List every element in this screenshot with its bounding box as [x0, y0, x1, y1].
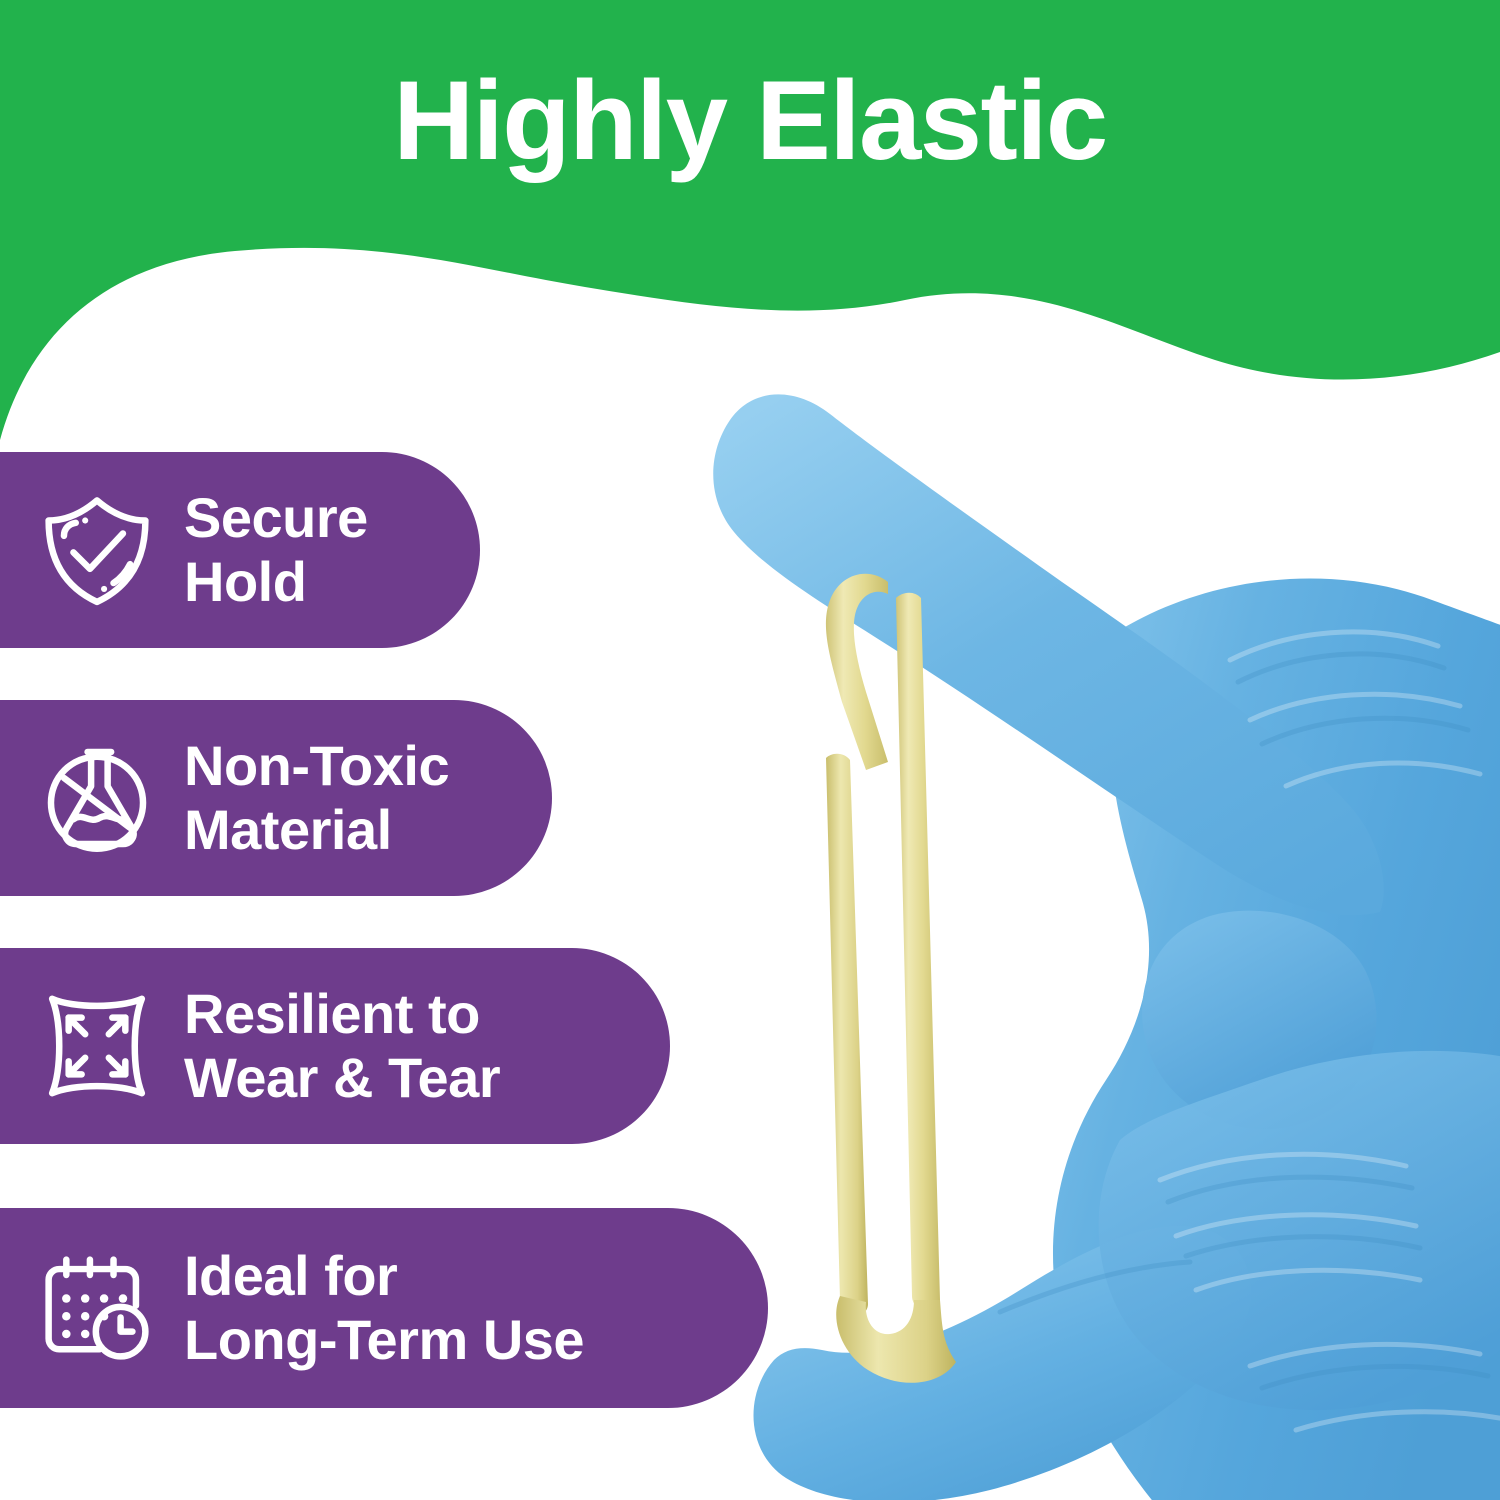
- feature-pill-non-toxic-material[interactable]: Non-Toxic Material: [0, 700, 552, 896]
- feature-pill-secure-hold[interactable]: Secure Hold: [0, 452, 480, 648]
- shield-check-icon: [38, 491, 156, 609]
- feature-label: Non-Toxic Material: [184, 734, 449, 862]
- promo-graphic: Highly Elastic: [0, 0, 1500, 1500]
- rubber-band: [826, 574, 956, 1383]
- rubber-band-front-strand: [896, 593, 940, 1313]
- rubber-band-back-strand: [826, 754, 868, 1317]
- no-toxic-flask-icon: [38, 739, 156, 857]
- page-title: Highly Elastic: [0, 62, 1500, 180]
- feature-pill-resilient-wear-tear[interactable]: Resilient to Wear & Tear: [0, 948, 670, 1144]
- feature-pill-long-term-use[interactable]: Ideal for Long-Term Use: [0, 1208, 768, 1408]
- stretch-arrows-icon: [38, 987, 156, 1105]
- feature-label: Secure Hold: [184, 486, 368, 614]
- calendar-clock-icon: [38, 1249, 156, 1367]
- feature-label: Resilient to Wear & Tear: [184, 982, 500, 1110]
- feature-label: Ideal for Long-Term Use: [184, 1244, 584, 1372]
- product-photo: [690, 300, 1500, 1500]
